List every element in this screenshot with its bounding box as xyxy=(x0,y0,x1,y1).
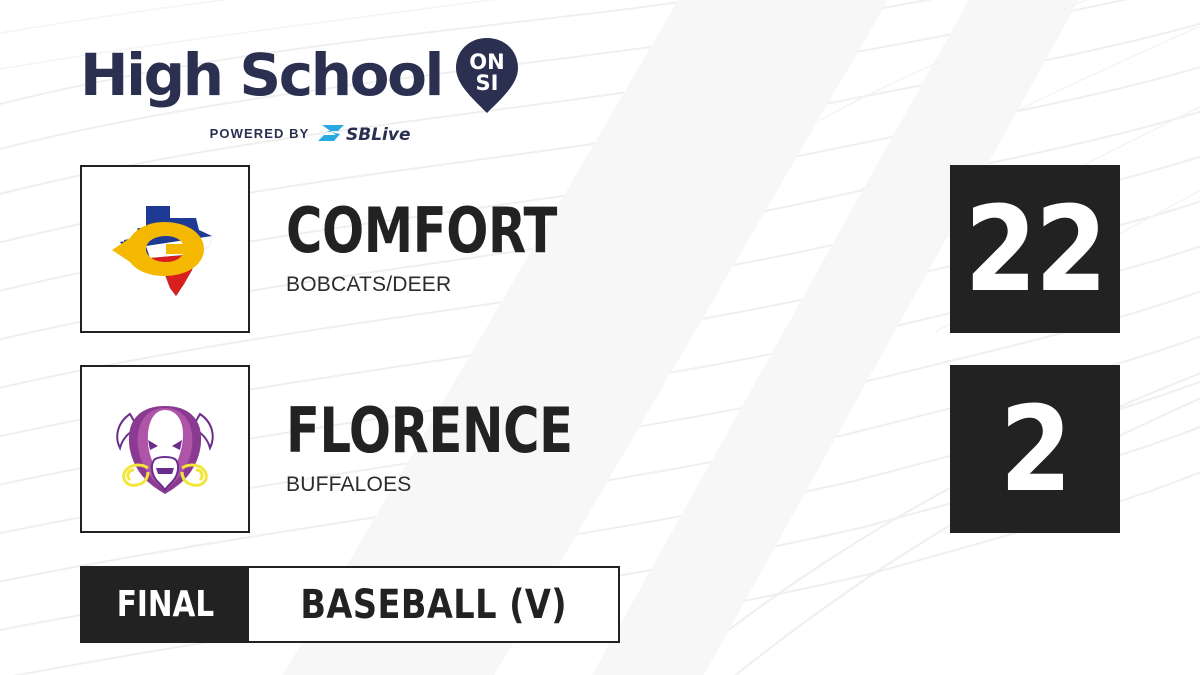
team-logo-card-florence xyxy=(80,365,250,533)
team-logo-card-comfort xyxy=(80,165,250,333)
powered-by-label: POWERED BY xyxy=(210,126,310,141)
florence-buffalo-icon xyxy=(100,384,230,514)
team-name: FLORENCE xyxy=(286,401,573,461)
status-badge: FINAL xyxy=(82,568,249,641)
team-text-comfort: COMFORT BOBCATS/DEER xyxy=(286,165,625,333)
score-value: 2 xyxy=(1000,390,1070,508)
comfort-texas-c-icon xyxy=(100,184,230,314)
team-mascot: BOBCATS/DEER xyxy=(286,273,625,297)
team-row: FLORENCE BUFFALOES 2 xyxy=(0,365,1200,533)
on-si-pin-icon: ON SI xyxy=(452,36,522,114)
brand-wordmark: High School xyxy=(80,46,442,104)
score-box-florence: 2 xyxy=(950,365,1120,533)
powered-by-row: POWERED BY SBLive xyxy=(116,122,522,144)
sblive-logo: SBLive xyxy=(318,122,428,144)
brand-header: High School ON SI POWERED BY SBLive xyxy=(80,36,522,144)
score-box-comfort: 22 xyxy=(950,165,1120,333)
team-text-florence: FLORENCE BUFFALOES xyxy=(286,365,644,533)
sblive-wordmark: SBLive xyxy=(346,125,410,144)
team-name: COMFORT xyxy=(286,201,557,261)
pin-label-si: SI xyxy=(476,71,499,95)
sport-label-container: BASEBALL (V) xyxy=(249,568,618,641)
sport-label: BASEBALL (V) xyxy=(300,582,567,628)
team-row: COMFORT BOBCATS/DEER 22 xyxy=(0,165,1200,333)
game-status-bar: FINAL BASEBALL (V) xyxy=(80,566,620,643)
brand-row: High School ON SI xyxy=(80,36,522,114)
score-value: 22 xyxy=(965,190,1106,308)
status-state-label: FINAL xyxy=(117,584,215,625)
team-mascot: BUFFALOES xyxy=(286,473,644,497)
